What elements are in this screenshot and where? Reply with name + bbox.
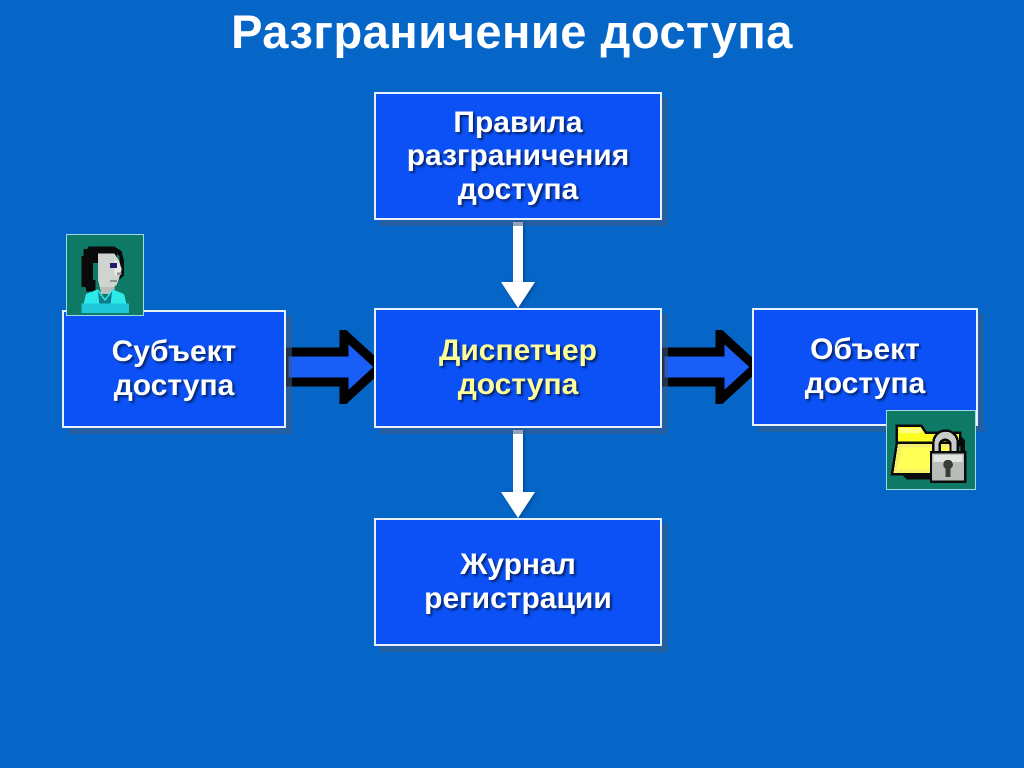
arrow-manager-to-journal <box>501 430 535 518</box>
node-label: Журнал регистрации <box>418 548 618 615</box>
arrow-shaft <box>513 430 523 492</box>
node-access-rules[interactable]: Правила разграничения доступа <box>374 92 662 220</box>
slide-canvas: Разграничение доступа Правила разграниче… <box>0 0 1024 768</box>
node-label: Правила разграничения доступа <box>401 106 636 207</box>
arrow-manager-to-object <box>660 330 758 404</box>
node-access-object[interactable]: Объект доступа <box>752 308 978 426</box>
page-title: Разграничение доступа <box>0 4 1024 59</box>
arrow-head <box>501 282 535 308</box>
node-access-subject[interactable]: Субъект доступа <box>62 310 286 428</box>
arrow-subject-to-manager <box>284 330 382 404</box>
node-label: Объект доступа <box>799 333 932 400</box>
node-access-manager[interactable]: Диспетчер доступа <box>374 308 662 428</box>
user-person-icon <box>66 234 144 316</box>
arrow-rules-to-manager <box>501 222 535 308</box>
node-registration-journal[interactable]: Журнал регистрации <box>374 518 662 646</box>
node-label: Субъект доступа <box>106 335 243 402</box>
arrow-head <box>501 492 535 518</box>
node-label: Диспетчер доступа <box>433 334 603 401</box>
arrow-shaft <box>513 222 523 282</box>
locked-folder-icon <box>886 410 976 490</box>
